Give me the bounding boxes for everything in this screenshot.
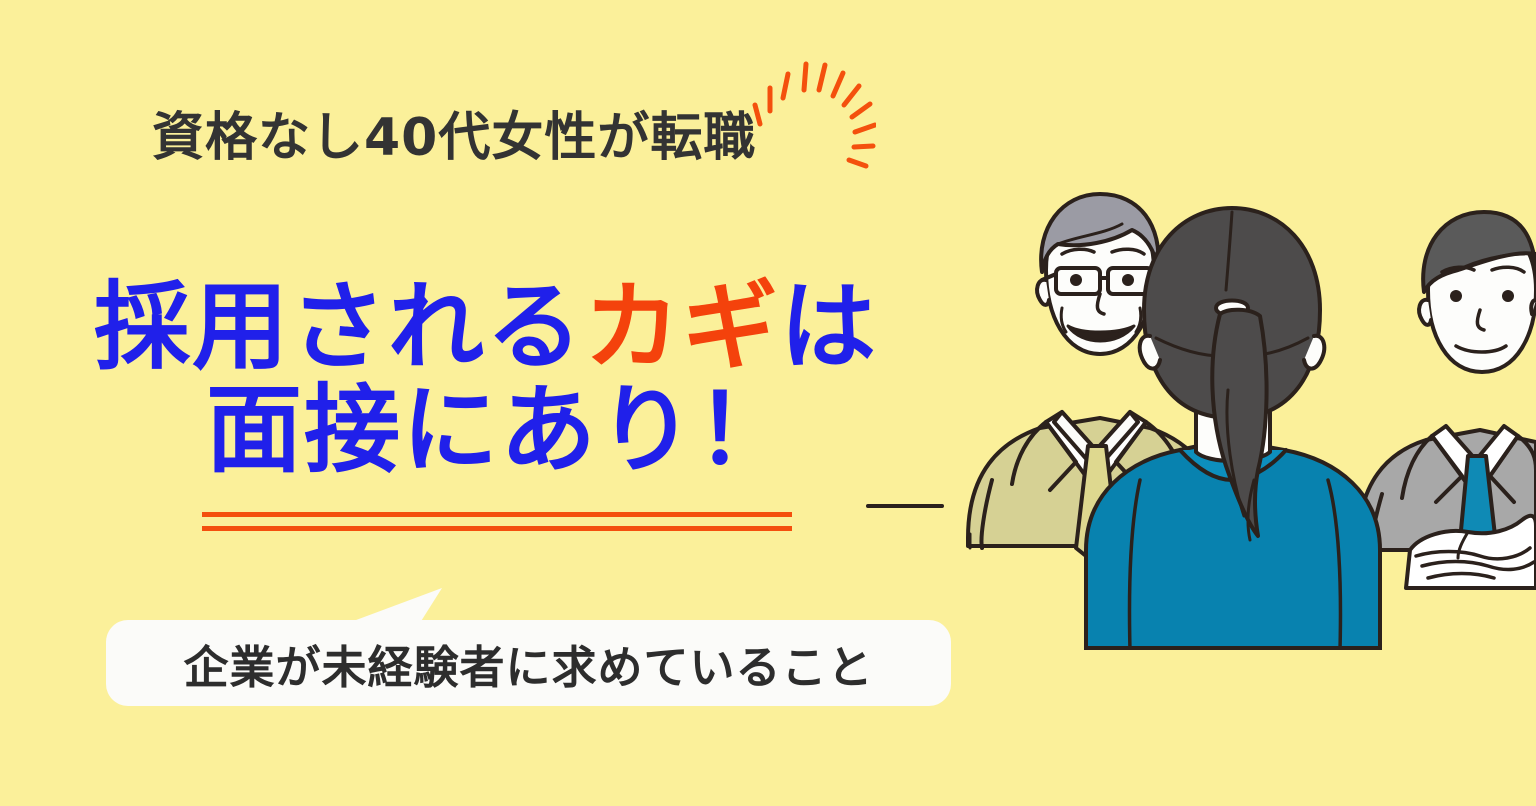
- headline-line-1-part-1: 採用される: [94, 271, 584, 383]
- speech-bubble: 企業が未経験者に求めていること: [106, 620, 951, 706]
- headline-underline: [202, 512, 792, 534]
- underline-rule-top: [202, 512, 792, 517]
- speech-bubble-text: 企業が未経験者に求めていること: [183, 631, 873, 696]
- banner-root: 資格なし40代女性が転職 採用されるカギは 面接にあり！: [0, 0, 1536, 806]
- headline-accent-word: カギ: [584, 271, 780, 383]
- underline-rule-bottom: [202, 526, 792, 531]
- kicker-text: 資格なし40代女性が転職: [152, 112, 756, 164]
- headline-line-2: 面接にあり！: [206, 379, 794, 482]
- job-interview-illustration: [850, 150, 1536, 650]
